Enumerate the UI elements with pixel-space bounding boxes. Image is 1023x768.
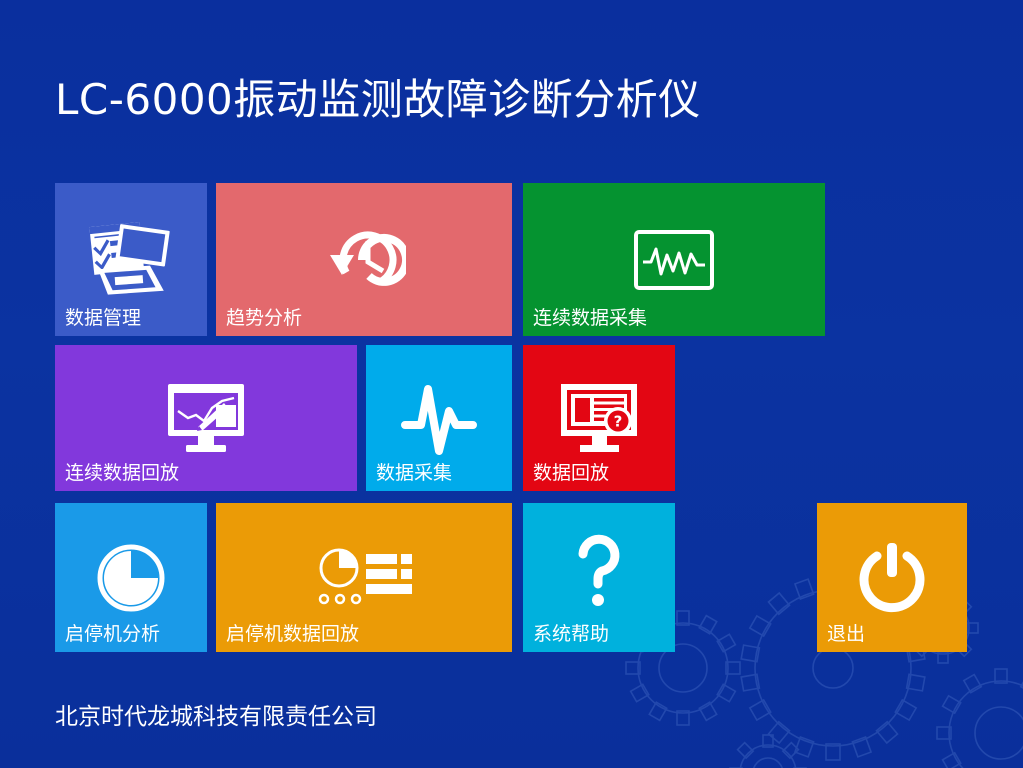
question-mark-icon: [523, 530, 675, 614]
tile-data-playback[interactable]: ? 数据回放: [523, 345, 675, 491]
page-title: LC-6000振动监测故障诊断分析仪: [55, 66, 701, 127]
tile-label: 系统帮助: [533, 623, 609, 645]
tile-label: 连续数据回放: [65, 462, 179, 484]
company-footer: 北京时代龙城科技有限责任公司: [55, 697, 377, 731]
laptop-checklist-icon: [55, 219, 207, 301]
tile-startup-shutdown-analysis[interactable]: 启停机分析: [55, 503, 207, 652]
start-screen: LC-6000振动监测故障诊断分析仪: [0, 0, 1023, 768]
tile-exit[interactable]: 退出: [817, 503, 967, 652]
tile-label: 启停机数据回放: [226, 623, 359, 645]
tile-label: 启停机分析: [65, 623, 160, 645]
tile-data-management[interactable]: 数据管理: [55, 183, 207, 336]
tile-continuous-data-acquisition[interactable]: 连续数据采集: [523, 183, 825, 336]
tile-trend-analysis[interactable]: 趋势分析: [216, 183, 512, 336]
tile-startup-shutdown-data-playback[interactable]: 启停机数据回放: [216, 503, 512, 652]
tile-label: 数据管理: [65, 307, 141, 329]
tile-label: 连续数据采集: [533, 307, 647, 329]
power-icon: [817, 540, 967, 616]
tile-data-acquisition[interactable]: 数据采集: [366, 345, 512, 491]
tile-continuous-data-playback[interactable]: 连续数据回放: [55, 345, 357, 491]
svg-text:?: ?: [614, 413, 623, 431]
tile-label: 退出: [827, 623, 865, 645]
history-clock-icon: [216, 219, 512, 301]
tile-label: 趋势分析: [226, 307, 302, 329]
waveform-screen-icon: [523, 229, 825, 291]
monitor-help-icon: ?: [523, 381, 675, 455]
pie-chart-icon: [55, 541, 207, 615]
pie-list-icon: [216, 547, 512, 609]
tile-label: 数据回放: [533, 462, 609, 484]
tile-label: 数据采集: [376, 462, 452, 484]
monitor-chart-icon: [55, 381, 357, 455]
tile-system-help[interactable]: 系统帮助: [523, 503, 675, 652]
pulse-wave-icon: [366, 379, 512, 457]
